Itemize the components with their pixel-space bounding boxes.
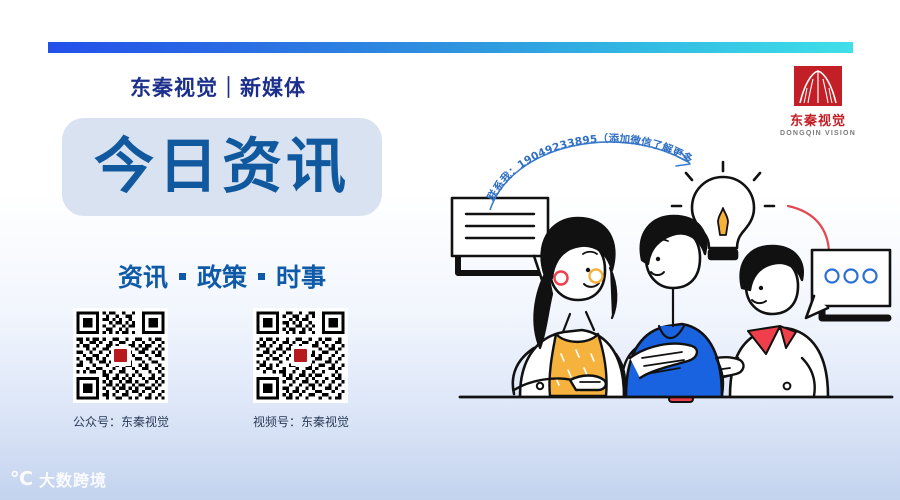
qr-item-video-account[interactable]: 视频号：东秦视觉 — [253, 308, 349, 430]
headline-box: 今日资讯 — [62, 118, 382, 216]
qr-center-logo — [291, 346, 311, 366]
dots-bubble-icon — [806, 250, 890, 318]
red-connector-curve — [788, 206, 829, 252]
speech-bubble-icon — [452, 198, 552, 280]
qr-caption: 视频号：东秦视觉 — [253, 413, 349, 430]
qr-item-official-account[interactable]: 公众号：东秦视觉 — [73, 308, 169, 430]
red-mountain-mark-icon — [794, 66, 842, 106]
tagline: 资讯政策时事 — [48, 258, 396, 294]
tagline-item-1: 资讯 — [118, 263, 168, 292]
poster-canvas: 东秦视觉｜新媒体 今日资讯 资讯政策时事 — [0, 0, 900, 500]
watermark: ℃ 大数跨境 — [10, 466, 107, 492]
watermark-text: 大数跨境 — [39, 467, 107, 491]
qr-code-image[interactable] — [73, 308, 168, 403]
top-gradient-bar — [48, 42, 853, 53]
qr-code-group: 公众号：东秦视觉 — [48, 308, 398, 438]
three-people-discussion-illustration — [430, 118, 900, 408]
tagline-separator-dot — [258, 273, 265, 280]
page-title: 今日资讯 — [94, 137, 350, 197]
qr-caption: 公众号：东秦视觉 — [73, 413, 169, 430]
brand-line: 东秦视觉｜新媒体 — [48, 72, 388, 102]
dashu-logo-icon: ℃ — [10, 470, 32, 489]
qr-code-image[interactable] — [253, 308, 348, 403]
qr-center-logo — [111, 346, 131, 366]
dongqin-red-mark-icon — [294, 349, 307, 362]
tagline-item-3: 时事 — [276, 263, 326, 292]
dongqin-red-mark-icon — [114, 349, 127, 362]
tagline-item-2: 政策 — [197, 263, 247, 292]
tagline-separator-dot — [179, 273, 186, 280]
